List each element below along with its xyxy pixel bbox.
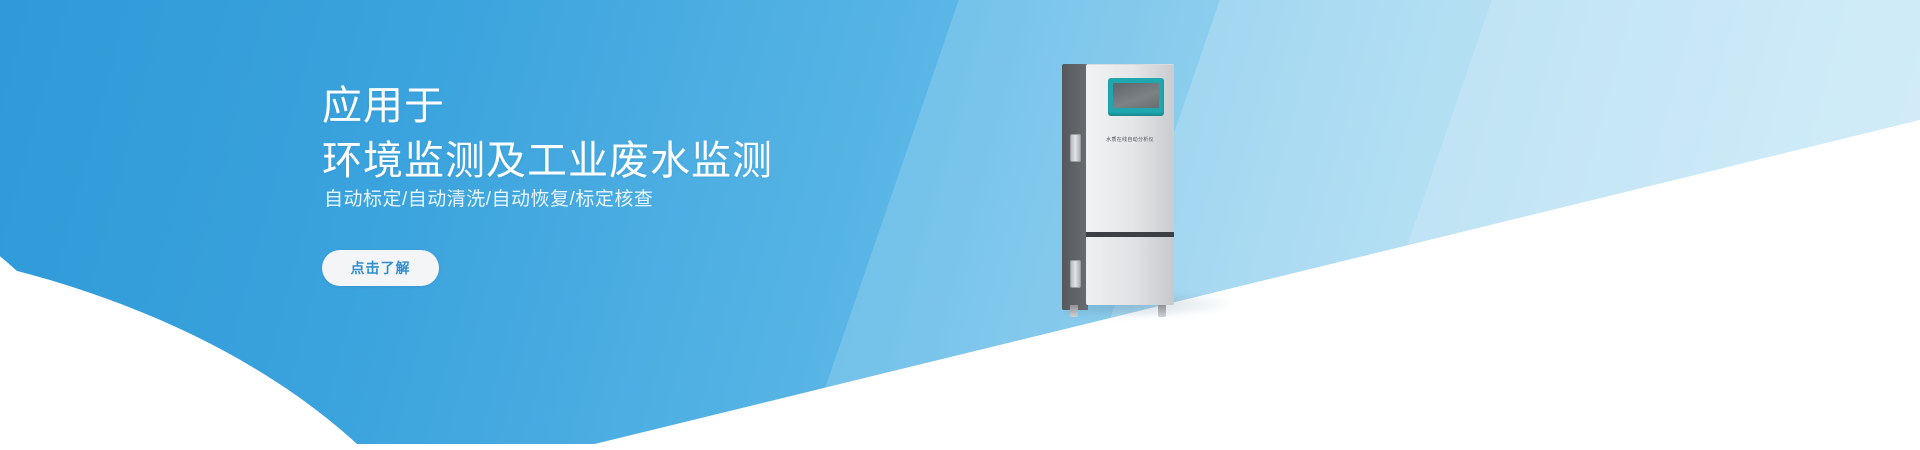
banner-subtitle: 自动标定/自动清洗/自动恢复/标定核查 bbox=[324, 184, 653, 211]
device-lower-cabinet bbox=[1086, 237, 1174, 305]
device-handle-lower bbox=[1070, 260, 1081, 288]
device-label: 水质在线自动分析仪 bbox=[1086, 136, 1174, 143]
device-foot-left bbox=[1070, 305, 1078, 317]
device-handle-upper bbox=[1070, 134, 1081, 162]
banner-headline: 应用于 环境监测及工业废水监测 bbox=[322, 79, 773, 189]
headline-line-2: 环境监测及工业废水监测 bbox=[322, 134, 773, 189]
banner-text-block: 应用于 环境监测及工业废水监测 自动标定/自动清洗/自动恢复/标定核查 bbox=[322, 0, 1082, 450]
learn-more-button[interactable]: 点击了解 bbox=[322, 250, 439, 286]
device-screen-bezel bbox=[1108, 78, 1164, 116]
water-quality-analyzer-image: 水质在线自动分析仪 bbox=[1062, 64, 1174, 310]
device-foot-right bbox=[1158, 305, 1166, 317]
hero-banner: 应用于 环境监测及工业废水监测 自动标定/自动清洗/自动恢复/标定核查 点击了解… bbox=[0, 0, 1920, 450]
device-screen bbox=[1113, 83, 1159, 108]
headline-line-1: 应用于 bbox=[322, 79, 773, 134]
